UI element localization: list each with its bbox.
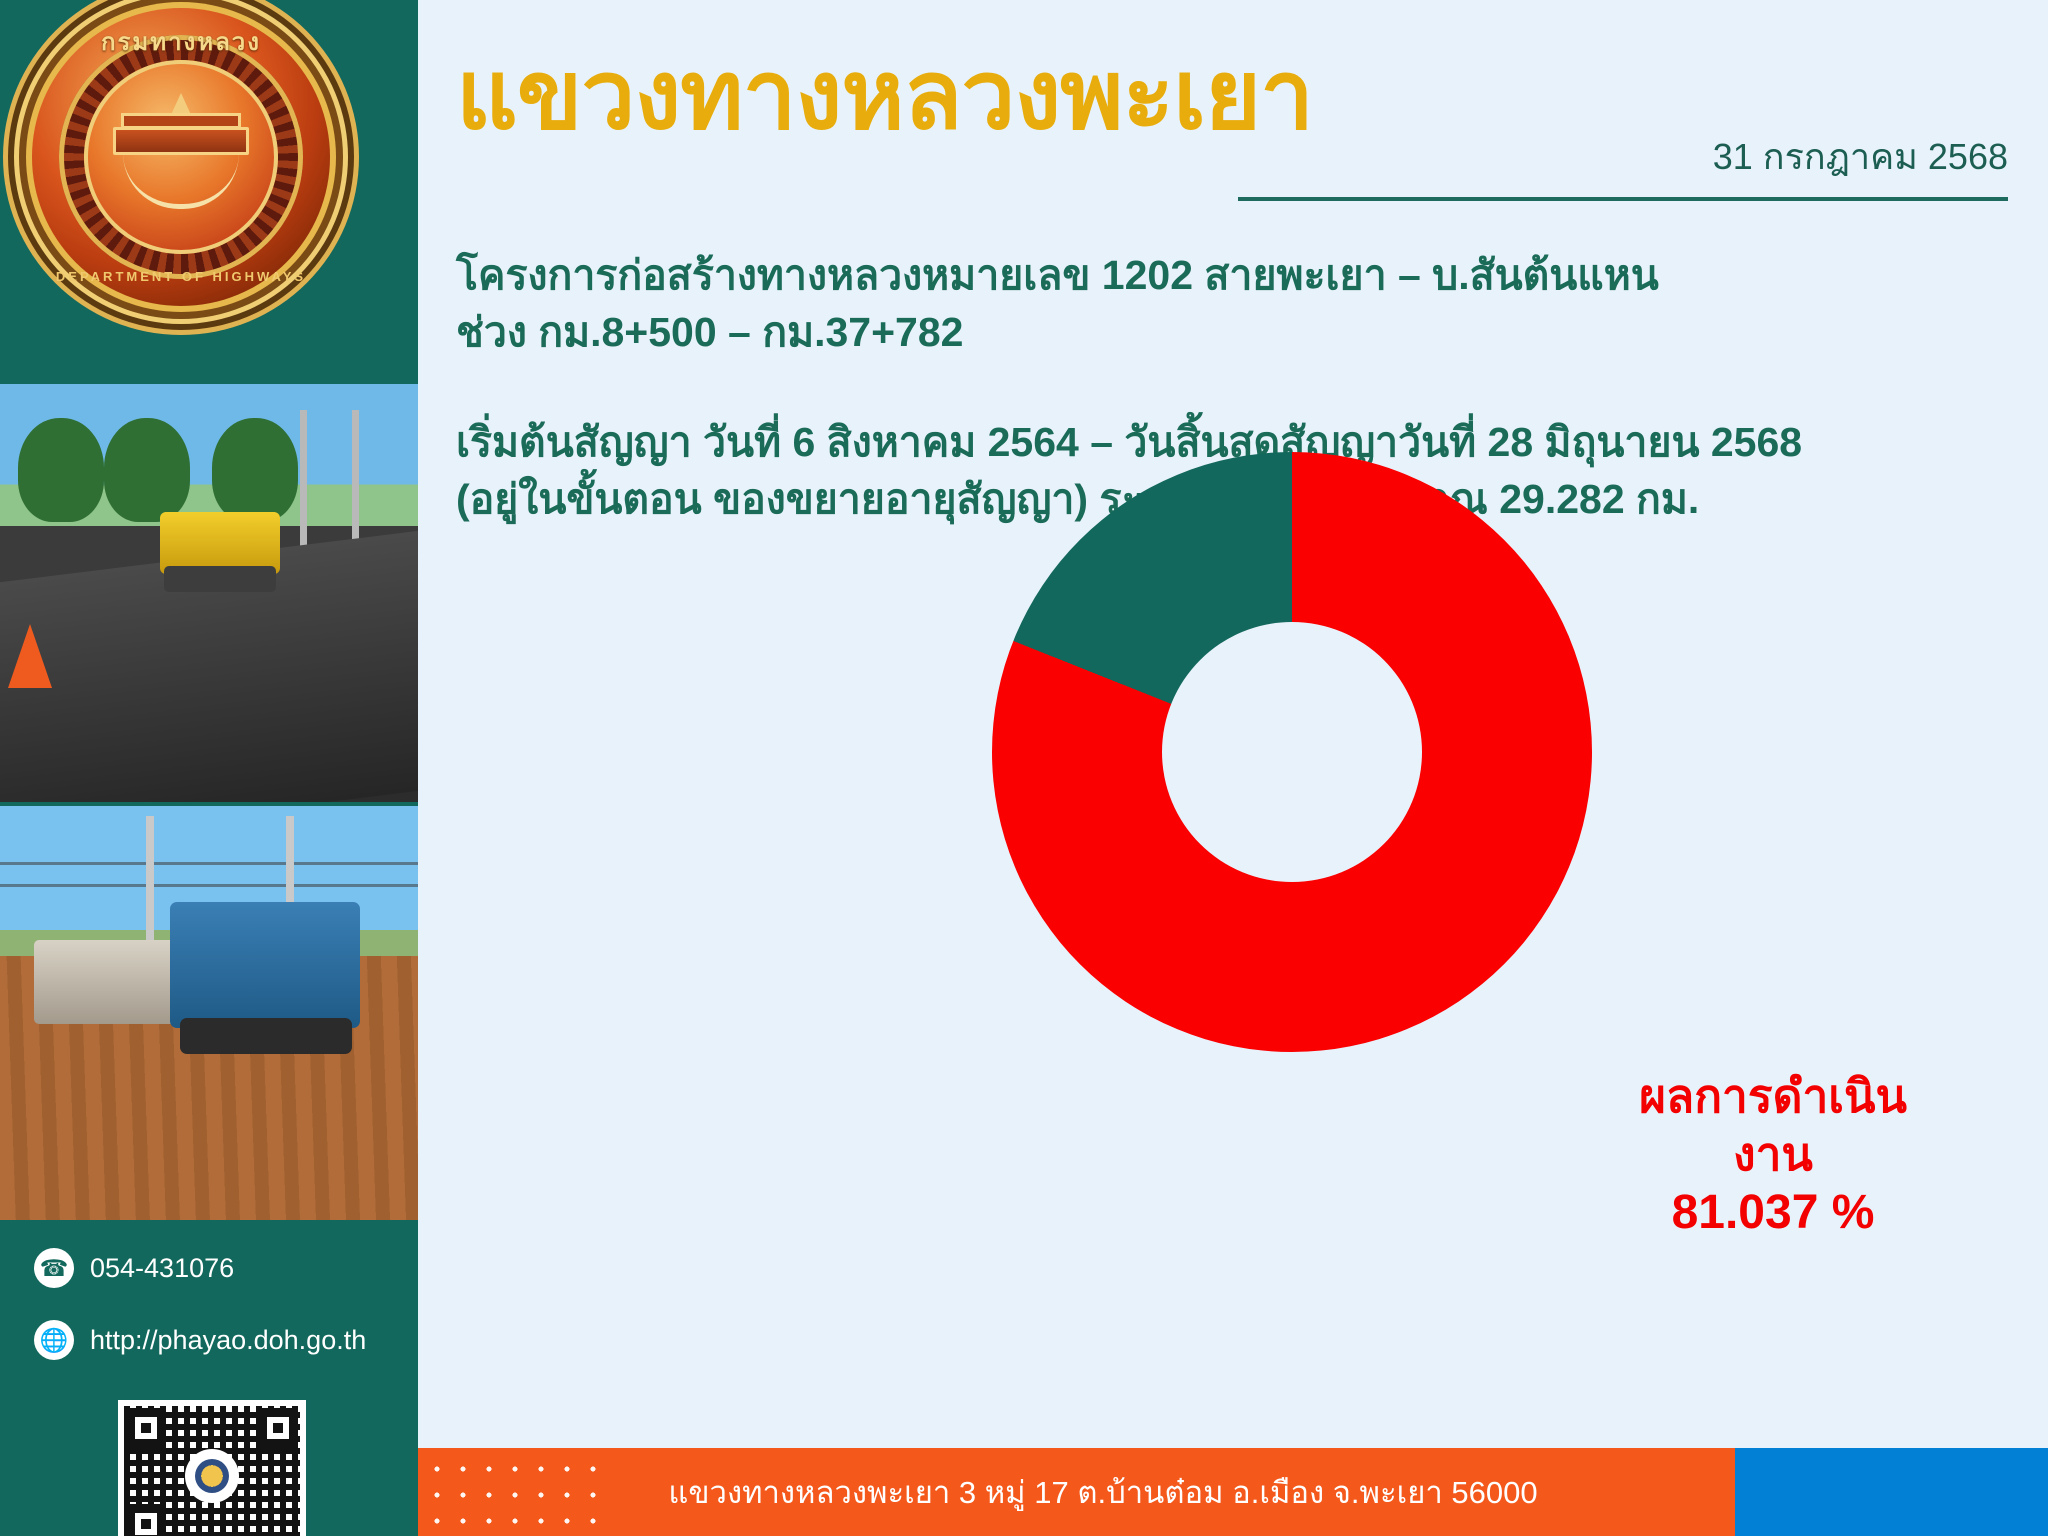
utility-pole — [300, 410, 307, 560]
qr-code-modules — [124, 1406, 300, 1536]
project-name-line-2: ช่วง กม.8+500 – กม.37+782 — [456, 305, 963, 360]
project-name-line-1: โครงการก่อสร้างทางหลวงหมายเลข 1202 สายพะ… — [456, 248, 1659, 303]
crest-drape — [123, 153, 239, 209]
footer-accent-block — [1735, 1448, 2048, 1536]
contact-phone-row[interactable]: ☎ 054-431076 — [34, 1248, 234, 1288]
road-roller-machine — [160, 512, 280, 574]
phone-number: 054-431076 — [90, 1253, 234, 1284]
qr-center-logo-icon — [189, 1453, 235, 1499]
tree — [212, 418, 298, 522]
qr-finder-bottom-left — [126, 1504, 166, 1536]
website-url: http://phayao.doh.go.th — [90, 1325, 366, 1356]
progress-donut-chart — [992, 452, 1592, 1052]
crest-bar — [113, 127, 249, 155]
emblem-inner-disc — [84, 60, 278, 254]
road-milling-machine — [170, 902, 360, 1028]
dump-truck — [34, 940, 184, 1024]
result-label-text: ผลการดำเนินงาน — [1608, 1068, 1938, 1183]
left-sidebar: กรมทางหลวง DEPARTMENT OF HIGHWAYS ☎ 054-… — [0, 0, 418, 1536]
department-of-highways-emblem-icon: กรมทางหลวง DEPARTMENT OF HIGHWAYS — [32, 8, 330, 306]
footer-bar: แขวงทางหลวงพะเยา 3 หมู่ 17 ต.บ้านต๋อม อ.… — [418, 1448, 2048, 1536]
tree — [18, 418, 104, 522]
qr-code[interactable] — [118, 1400, 306, 1536]
qr-finder-top-right — [258, 1408, 298, 1448]
contact-panel: ☎ 054-431076 🌐 http://phayao.doh.go.th — [0, 1224, 418, 1536]
power-wire — [0, 884, 418, 887]
contact-website-row[interactable]: 🌐 http://phayao.doh.go.th — [34, 1320, 366, 1360]
emblem-crest-icon — [107, 93, 255, 213]
page-title: แขวงทางหลวงพะเยา — [456, 48, 1313, 144]
donut-center-hole — [1162, 622, 1422, 882]
logo-panel: กรมทางหลวง DEPARTMENT OF HIGHWAYS — [0, 0, 418, 390]
main-content: แขวงทางหลวงพะเยา 31 กรกฎาคม 2568 โครงการ… — [418, 0, 2048, 1536]
tree — [104, 418, 190, 522]
traffic-cone — [8, 624, 52, 688]
globe-icon: 🌐 — [34, 1320, 74, 1360]
report-date: 31 กรกฎาคม 2568 — [1713, 136, 2008, 177]
date-block: 31 กรกฎาคม 2568 — [1238, 128, 2008, 201]
photo-paving-roller — [0, 384, 418, 802]
qr-finder-top-left — [126, 1408, 166, 1448]
emblem-top-text: กรมทางหลวง — [32, 22, 330, 61]
power-wire — [0, 862, 418, 865]
result-value-text: 81.037 % — [1608, 1183, 1938, 1243]
emblem-bottom-text: DEPARTMENT OF HIGHWAYS — [32, 269, 330, 284]
photo-earthwork-machinery — [0, 806, 418, 1220]
result-callout: ผลการดำเนินงาน 81.037 % — [1608, 1068, 1938, 1243]
phone-icon: ☎ — [34, 1248, 74, 1288]
